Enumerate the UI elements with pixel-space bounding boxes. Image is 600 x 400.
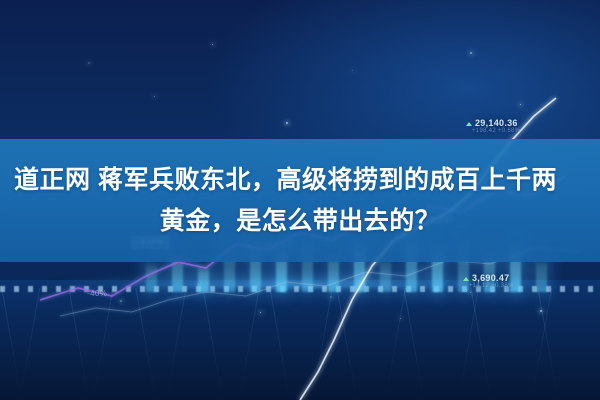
up-arrow-icon bbox=[463, 277, 469, 281]
percent-label: -40% bbox=[87, 289, 107, 298]
headline-line-1: 道正网 蒋军兵败东北，高级将捞到的成百上千两 bbox=[0, 160, 600, 201]
ticker-29140: 29,140.36 +198.42 +0.68% bbox=[466, 118, 520, 134]
sparkle-12 bbox=[330, 296, 332, 298]
sparkle-0 bbox=[88, 62, 90, 64]
sparkle-6 bbox=[470, 52, 472, 54]
sparkle-9 bbox=[120, 300, 122, 302]
up-arrow-icon bbox=[466, 122, 472, 126]
ticker-3690: 3,690.47 +14.12 +0.38% bbox=[463, 273, 514, 289]
sparkle-3 bbox=[286, 122, 288, 124]
headline-line-2: 黄金，是怎么带出去的？ bbox=[0, 201, 600, 242]
promo-banner: 29,140.36 +198.42 +0.68% 19,580 +86.10 +… bbox=[0, 0, 600, 400]
headline-block: 道正网 蒋军兵败东北，高级将捞到的成百上千两 黄金，是怎么带出去的？ bbox=[0, 139, 600, 262]
sparkle-15 bbox=[540, 310, 542, 312]
